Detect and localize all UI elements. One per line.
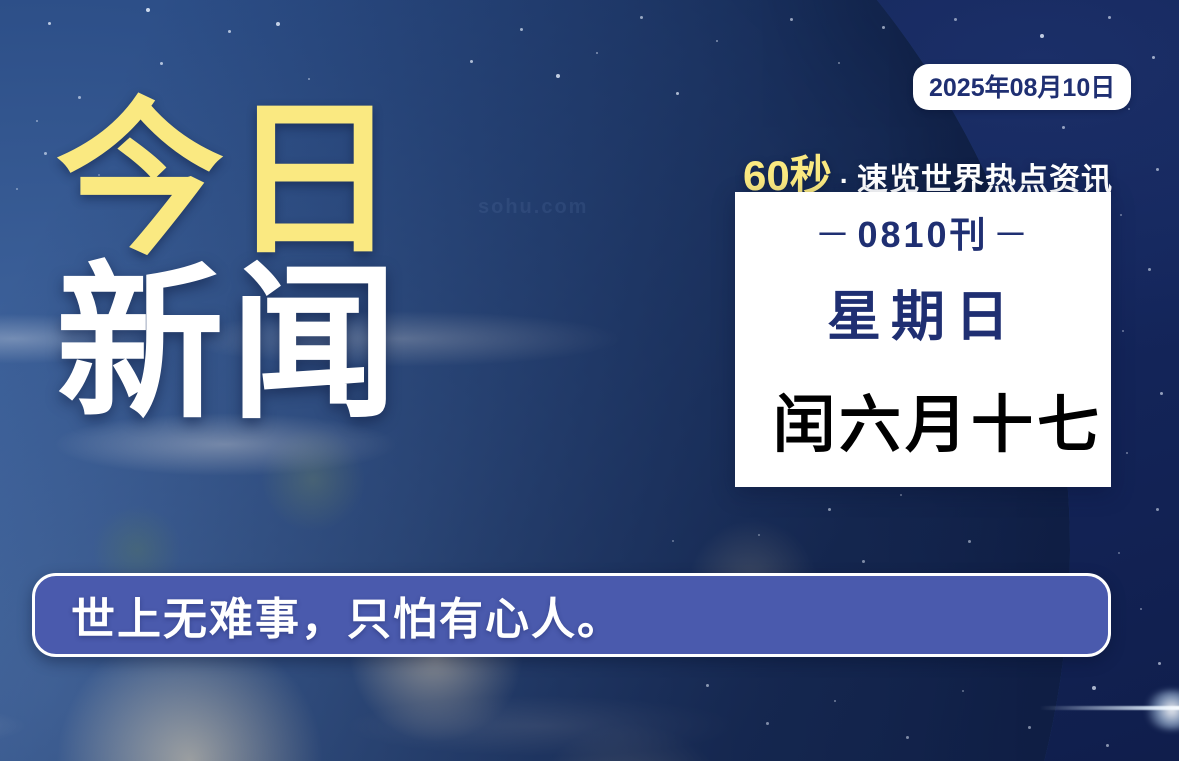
quote-banner: 世上无难事，只怕有心人。 xyxy=(32,573,1111,657)
weekday-label: 星期日 xyxy=(827,272,1019,351)
star xyxy=(828,508,831,511)
star xyxy=(556,74,560,78)
star xyxy=(146,8,150,12)
star xyxy=(596,52,598,54)
star xyxy=(1140,608,1142,610)
star xyxy=(962,690,964,692)
star xyxy=(1122,330,1124,332)
star xyxy=(228,30,231,33)
star xyxy=(954,18,957,21)
star xyxy=(308,78,310,80)
watermark-text: sohu.com xyxy=(478,196,588,219)
star xyxy=(1120,214,1122,216)
star xyxy=(834,700,836,702)
star xyxy=(900,494,902,496)
headline-line-2: 新闻 xyxy=(56,260,404,428)
date-badge: 2025年08月10日 xyxy=(913,64,1131,110)
star xyxy=(1158,662,1161,665)
star xyxy=(1148,268,1151,271)
star xyxy=(1128,108,1130,110)
star xyxy=(1118,552,1120,554)
star xyxy=(16,188,18,190)
star xyxy=(36,120,38,122)
star xyxy=(1040,34,1044,38)
star xyxy=(1028,726,1031,729)
star xyxy=(706,684,709,687)
star xyxy=(838,62,840,64)
lens-flare-core xyxy=(1143,690,1179,730)
star xyxy=(1126,452,1128,454)
issue-number-row: －0810刊－ xyxy=(810,206,1035,258)
star xyxy=(676,92,679,95)
star xyxy=(1108,16,1111,19)
news-poster: sohu.com 今日 新闻 2025年08月10日 60秒 · 速览世界热点资… xyxy=(0,0,1179,761)
issue-dash-left: － xyxy=(810,214,857,255)
star xyxy=(44,152,47,155)
page-title: 今日 新闻 xyxy=(56,96,404,428)
issue-number: 0810刊 xyxy=(857,214,988,255)
star xyxy=(520,28,523,31)
lens-flare-streak xyxy=(1039,706,1179,710)
lunar-date-label: 闰六月十七 xyxy=(773,374,1103,464)
star xyxy=(968,540,971,543)
star xyxy=(160,62,163,65)
star xyxy=(1152,56,1155,59)
star xyxy=(862,560,865,563)
star xyxy=(766,722,769,725)
star xyxy=(1160,392,1163,395)
star xyxy=(882,26,885,29)
star xyxy=(276,22,280,26)
quote-text: 世上无难事，只怕有心人。 xyxy=(35,583,623,647)
star xyxy=(48,22,51,25)
star xyxy=(1156,168,1159,171)
star xyxy=(1156,508,1159,511)
issue-dash-right: － xyxy=(989,214,1036,255)
star xyxy=(790,18,793,21)
star xyxy=(640,16,643,19)
star xyxy=(716,40,718,42)
headline-line-1: 今日 xyxy=(56,96,404,264)
star xyxy=(1092,686,1096,690)
star xyxy=(906,736,909,739)
star xyxy=(1106,744,1109,747)
star xyxy=(1062,126,1065,129)
star xyxy=(672,540,674,542)
star xyxy=(758,534,760,536)
star xyxy=(470,60,473,63)
